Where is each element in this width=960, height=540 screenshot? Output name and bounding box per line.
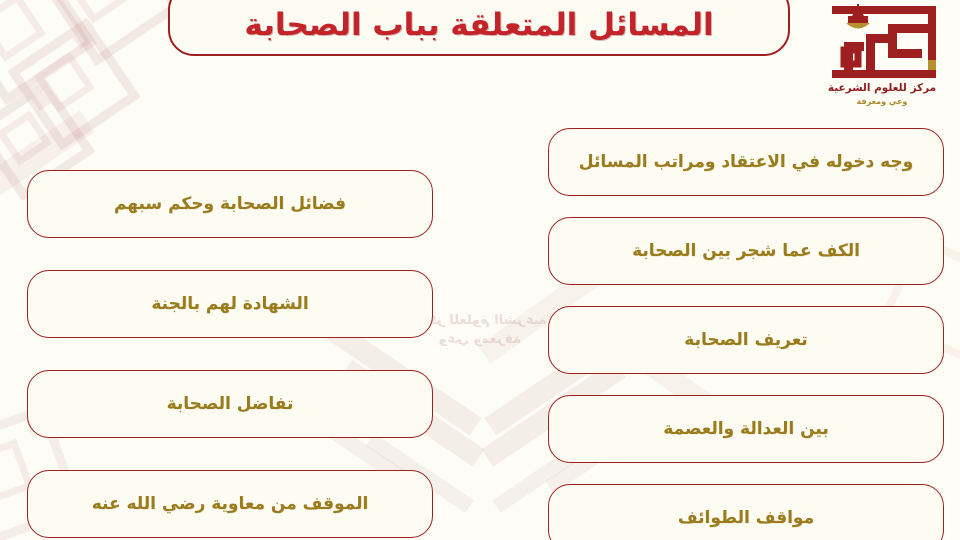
kufic-pattern-icon (7, 17, 140, 150)
logo-center-name: مركز للعلوم الشرعية (818, 82, 946, 94)
page-title: المسائل المتعلقة بباب الصحابة (244, 7, 713, 43)
logo-tagline: وعي ومعرفة (818, 97, 946, 106)
topic-box[interactable]: الكف عما شجر بين الصحابة (548, 217, 944, 285)
kufic-pattern-icon (38, 0, 182, 66)
ahkam-kufic-logo-icon (818, 4, 946, 82)
topic-label: فضائل الصحابة وحكم سبهم (114, 194, 346, 214)
slide-canvas: مركز للعلوم الشرعية وعي ومعرفة المسائل ا… (0, 0, 960, 540)
topic-label: الكف عما شجر بين الصحابة (632, 241, 860, 261)
kufic-pattern-icon (0, 0, 97, 105)
topic-label: الشهادة لهم بالجنة (151, 294, 308, 314)
topic-box[interactable]: وجه دخوله في الاعتقاد ومراتب المسائل (548, 128, 944, 196)
slide-title-box: المسائل المتعلقة بباب الصحابة (168, 0, 790, 56)
topic-box[interactable]: تعريف الصحابة (548, 306, 944, 374)
topic-box[interactable]: فضائل الصحابة وحكم سبهم (27, 170, 433, 238)
topic-label: بين العدالة والعصمة (663, 419, 828, 439)
brand-logo: مركز للعلوم الشرعية وعي ومعرفة (818, 4, 946, 116)
topic-label: الموقف من معاوية رضي الله عنه (92, 494, 369, 514)
left-column: فضائل الصحابة وحكم سبهم الشهادة لهم بالج… (27, 170, 433, 538)
topic-label: تفاضل الصحابة (167, 394, 294, 414)
topic-box[interactable]: الشهادة لهم بالجنة (27, 270, 433, 338)
topic-label: مواقف الطوائف (678, 508, 814, 528)
topic-box[interactable]: الموقف من معاوية رضي الله عنه (27, 470, 433, 538)
topic-label: تعريف الصحابة (684, 330, 807, 350)
topic-box[interactable]: مواقف الطوائف (548, 484, 944, 540)
topic-label: وجه دخوله في الاعتقاد ومراتب المسائل (579, 152, 913, 172)
right-column: وجه دخوله في الاعتقاد ومراتب المسائل الك… (548, 128, 944, 540)
topic-box[interactable]: تفاضل الصحابة (27, 370, 433, 438)
topic-box[interactable]: بين العدالة والعصمة (548, 395, 944, 463)
